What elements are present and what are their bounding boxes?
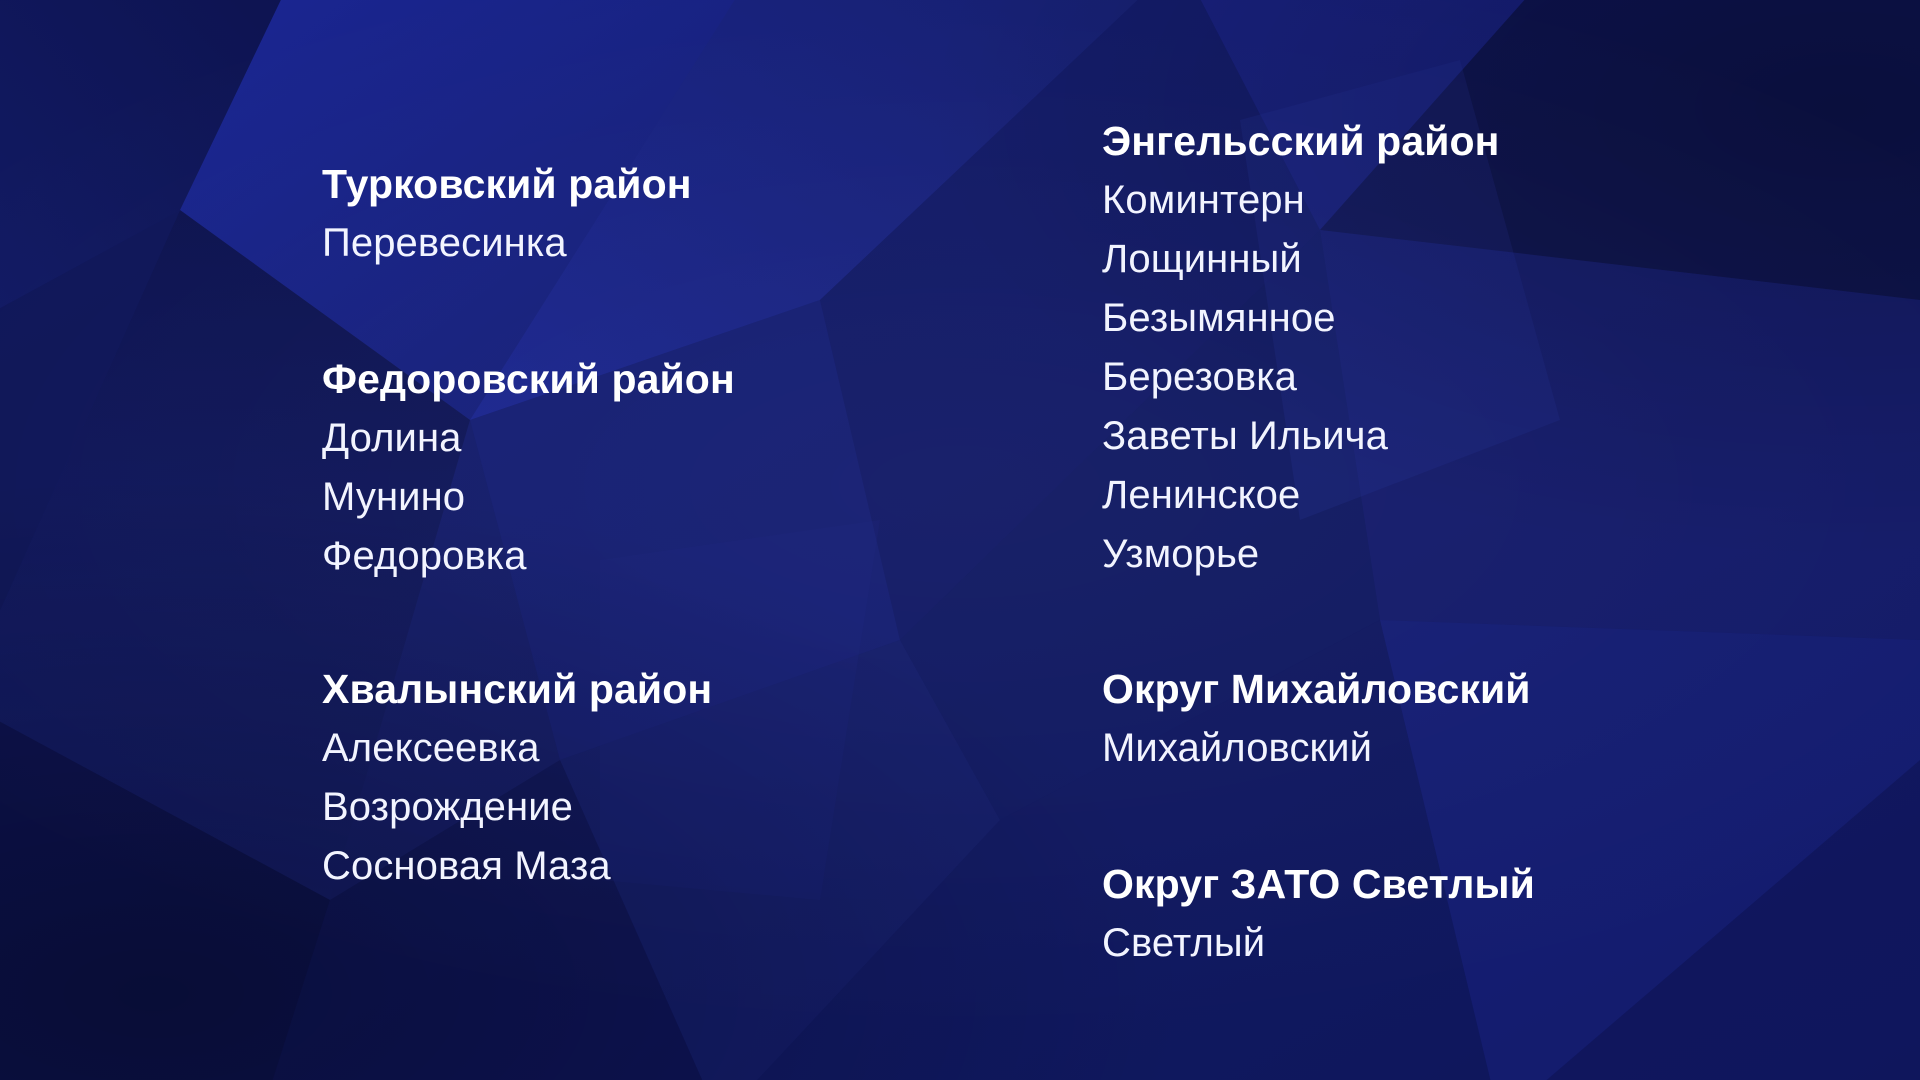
group-items-turkovsky: Перевесинка (322, 214, 1022, 273)
list-item: Алексеевка (322, 719, 1022, 778)
group-items-engelssky: Коминтерн Лощинный Безымянное Березовка … (1102, 171, 1862, 584)
group-okrug-zato-svetly: Округ ЗАТО Светлый Светлый (1102, 855, 1862, 973)
list-item: Михайловский (1102, 719, 1862, 778)
list-item: Ленинское (1102, 466, 1862, 525)
group-items-khvalynsky: Алексеевка Возрождение Сосновая Маза (322, 719, 1022, 896)
right-column: Энгельсский район Коминтерн Лощинный Без… (1102, 0, 1862, 1080)
list-item: Сосновая Маза (322, 837, 1022, 896)
group-fedorovsky: Федоровский район Долина Мунино Федоровк… (322, 350, 1022, 586)
group-turkovsky: Турковский район Перевесинка (322, 155, 1022, 273)
list-item: Светлый (1102, 914, 1862, 973)
group-khvalynsky: Хвалынский район Алексеевка Возрождение … (322, 660, 1022, 896)
list-item: Возрождение (322, 778, 1022, 837)
group-engelssky: Энгельсский район Коминтерн Лощинный Без… (1102, 112, 1862, 584)
group-title-turkovsky: Турковский район (322, 155, 1022, 214)
group-title-okrug-zato-svetly: Округ ЗАТО Светлый (1102, 855, 1862, 914)
content-area: Турковский район Перевесинка Федоровский… (0, 0, 1920, 1080)
list-item: Коминтерн (1102, 171, 1862, 230)
list-item: Мунино (322, 468, 1022, 527)
list-item: Лощинный (1102, 230, 1862, 289)
list-item: Перевесинка (322, 214, 1022, 273)
list-item: Березовка (1102, 348, 1862, 407)
group-title-khvalynsky: Хвалынский район (322, 660, 1022, 719)
list-item: Безымянное (1102, 289, 1862, 348)
list-item: Заветы Ильича (1102, 407, 1862, 466)
slide-root: Турковский район Перевесинка Федоровский… (0, 0, 1920, 1080)
group-title-engelssky: Энгельсский район (1102, 112, 1862, 171)
list-item: Узморье (1102, 525, 1862, 584)
left-column: Турковский район Перевесинка Федоровский… (322, 0, 1022, 1080)
group-items-fedorovsky: Долина Мунино Федоровка (322, 409, 1022, 586)
list-item: Федоровка (322, 527, 1022, 586)
group-okrug-mikhaylovsky: Округ Михайловский Михайловский (1102, 660, 1862, 778)
group-title-okrug-mikhaylovsky: Округ Михайловский (1102, 660, 1862, 719)
group-items-okrug-zato-svetly: Светлый (1102, 914, 1862, 973)
list-item: Долина (322, 409, 1022, 468)
group-title-fedorovsky: Федоровский район (322, 350, 1022, 409)
group-items-okrug-mikhaylovsky: Михайловский (1102, 719, 1862, 778)
